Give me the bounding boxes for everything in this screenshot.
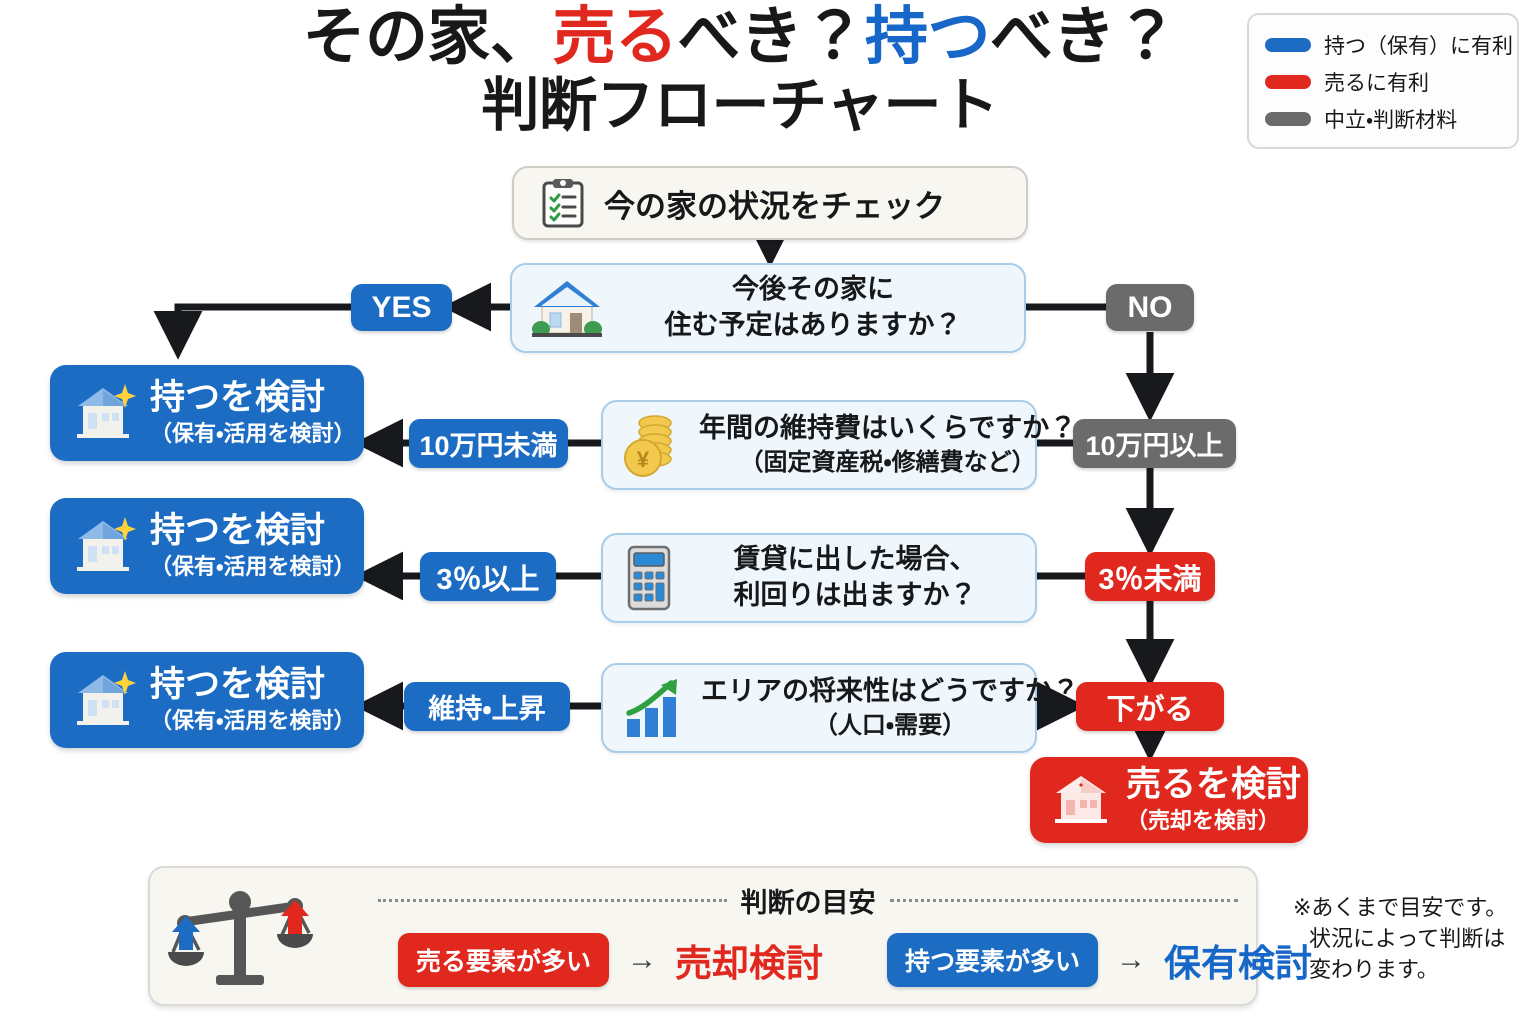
result-sell-sub: （売却を検討） <box>1126 807 1301 836</box>
result-keep-1-text: 持つを検討 （保有・活用を検討） <box>150 378 355 448</box>
disclaimer-line-3: 変わります。 <box>1293 954 1528 985</box>
result-keep-1-sub: （保有・活用を検討） <box>150 420 355 449</box>
question-q1-line1: 今後その家に <box>732 272 894 308</box>
question-node-q1[interactable]: 今後その家に 住む予定はありますか？ <box>510 263 1026 353</box>
result-keep-2-main: 持つを検討 <box>150 511 355 551</box>
result-keep-1-main: 持つを検討 <box>150 378 355 418</box>
summary-heading-row: 判断の目安 <box>378 882 1238 918</box>
start-node[interactable]: 今の家の状況をチェック <box>512 166 1028 240</box>
title-text-keep: 持つ <box>865 2 990 72</box>
summary-pill-sell[interactable]: 売る要素が多い <box>398 933 609 987</box>
legend-label-keep: 持つ（保有）に有利 <box>1324 30 1513 60</box>
clipboard-checklist-icon <box>540 178 586 228</box>
dot-divider-left <box>378 899 727 902</box>
question-q3-text: 賃貸に出した場合、 利回りは出ますか？ <box>693 542 1017 613</box>
title-text-beki-2: べき？ <box>990 2 1178 72</box>
question-q2-line1: 年間の維持費はいくらですか？ <box>699 411 1076 447</box>
page-title: その家、売るべき？持つべき？ 判断フローチャート <box>250 4 1230 136</box>
result-keep-3-main: 持つを検討 <box>150 665 355 705</box>
house-sparkle-icon <box>70 382 136 444</box>
result-node-keep-3[interactable]: 持つを検討 （保有・活用を検討） <box>50 652 364 748</box>
blue-bar-icon <box>1265 38 1311 52</box>
question-q1-text: 今後その家に 住む予定はありますか？ <box>620 272 1006 343</box>
summary-pill-keep[interactable]: 持つ要素が多い <box>887 933 1098 987</box>
dot-divider-right <box>890 899 1239 902</box>
question-q3-line1: 賃貸に出した場合、 <box>734 542 977 578</box>
badge-q4-yes[interactable]: 維持・上昇 <box>404 682 570 731</box>
result-sell-main: 売るを検討 <box>1126 765 1301 805</box>
summary-heading: 判断の目安 <box>741 881 876 920</box>
legend: 持つ（保有）に有利 売るに有利 中立・判断材料 <box>1247 13 1519 149</box>
legend-label-sell: 売るに有利 <box>1324 67 1429 97</box>
question-q3-line2: 利回りは出ますか？ <box>734 578 977 614</box>
result-node-keep-1[interactable]: 持つを検討 （保有・活用を検討） <box>50 365 364 461</box>
result-keep-3-sub: （保有・活用を検討） <box>150 707 355 736</box>
title-line-2: 判断フローチャート <box>250 75 1230 136</box>
badge-q1-no[interactable]: NO <box>1106 284 1194 331</box>
question-q4-text: エリアの将来性はどうですか？ （人口・需要） <box>701 674 1079 741</box>
question-q4-line1: エリアの将来性はどうですか？ <box>701 674 1079 710</box>
svg-text:¥: ¥ <box>637 447 650 472</box>
summary-arrow-keep-icon: → <box>1116 943 1146 977</box>
title-line-1: その家、売るべき？持つべき？ <box>250 4 1230 71</box>
calculator-icon <box>621 543 677 613</box>
question-q1-line2: 住む予定はありますか？ <box>665 308 962 344</box>
title-text-beki-1: べき？ <box>678 2 866 72</box>
badge-q3-no[interactable]: 3％未満 <box>1085 552 1215 601</box>
house-sparkle-icon <box>70 515 136 577</box>
red-bar-icon <box>1265 75 1311 89</box>
coins-yen-icon: ¥ <box>621 410 683 480</box>
question-node-q4[interactable]: エリアの将来性はどうですか？ （人口・需要） <box>601 663 1037 753</box>
disclaimer-line-2: 状況によって判断は <box>1293 923 1528 954</box>
summary-output-sell: 売却検討 <box>675 933 823 987</box>
question-q4-line2: （人口・需要） <box>814 710 966 742</box>
result-node-keep-2[interactable]: 持つを検討 （保有・活用を検討） <box>50 498 364 594</box>
badge-q4-no[interactable]: 下がる <box>1076 682 1224 731</box>
result-keep-2-text: 持つを検討 （保有・活用を検討） <box>150 511 355 581</box>
growth-chart-icon <box>621 675 685 741</box>
disclaimer-line-1: ※あくまで目安です。 <box>1293 892 1528 923</box>
summary-arrow-sell-icon: → <box>627 943 657 977</box>
summary-output-keep: 保有検討 <box>1164 933 1312 987</box>
badge-q3-yes[interactable]: 3％以上 <box>420 552 556 601</box>
legend-item-keep: 持つ（保有）に有利 <box>1265 27 1503 63</box>
title-text-sell: 売る <box>553 2 678 72</box>
flowchart-canvas: その家、売るべき？持つべき？ 判断フローチャート 持つ（保有）に有利 売るに有利… <box>0 0 1536 1024</box>
question-q2-text: 年間の維持費はいくらですか？ （固定資産税・修繕費など） <box>699 411 1076 478</box>
question-node-q3[interactable]: 賃貸に出した場合、 利回りは出ますか？ <box>601 533 1037 623</box>
result-sell-text: 売るを検討 （売却を検討） <box>1126 765 1301 835</box>
house-sparkle-icon <box>70 669 136 731</box>
legend-label-neutral: 中立・判断材料 <box>1324 104 1457 134</box>
balance-scale-icon <box>168 880 318 998</box>
summary-row: 売る要素が多い → 売却検討 持つ要素が多い → 保有検討 <box>398 924 1312 996</box>
result-keep-3-text: 持つを検討 （保有・活用を検討） <box>150 665 355 735</box>
result-keep-2-sub: （保有・活用を検討） <box>150 553 355 582</box>
grey-bar-icon <box>1265 112 1311 126</box>
house-sell-icon <box>1050 771 1112 829</box>
disclaimer: ※あくまで目安です。 状況によって判断は 変わります。 <box>1293 892 1528 986</box>
question-node-q2[interactable]: ¥ 年間の維持費はいくらですか？ （固定資産税・修繕費など） <box>601 400 1037 490</box>
question-q2-line2: （固定資産税・修繕費など） <box>740 447 1036 479</box>
legend-item-neutral: 中立・判断材料 <box>1265 101 1503 137</box>
result-node-sell[interactable]: 売るを検討 （売却を検討） <box>1030 757 1308 843</box>
summary-panel: 判断の目安 売る要素が多い → 売却検討 持つ要素が多い → 保有検討 <box>148 866 1258 1006</box>
legend-item-sell: 売るに有利 <box>1265 64 1503 100</box>
start-node-label: 今の家の状況をチェック <box>604 181 945 226</box>
badge-q2-no[interactable]: 10万円以上 <box>1073 419 1236 468</box>
badge-q1-yes[interactable]: YES <box>351 284 452 331</box>
title-text-lead: その家、 <box>303 2 553 72</box>
badge-q2-yes[interactable]: 10万円未満 <box>409 419 568 468</box>
house-icon <box>530 275 604 341</box>
